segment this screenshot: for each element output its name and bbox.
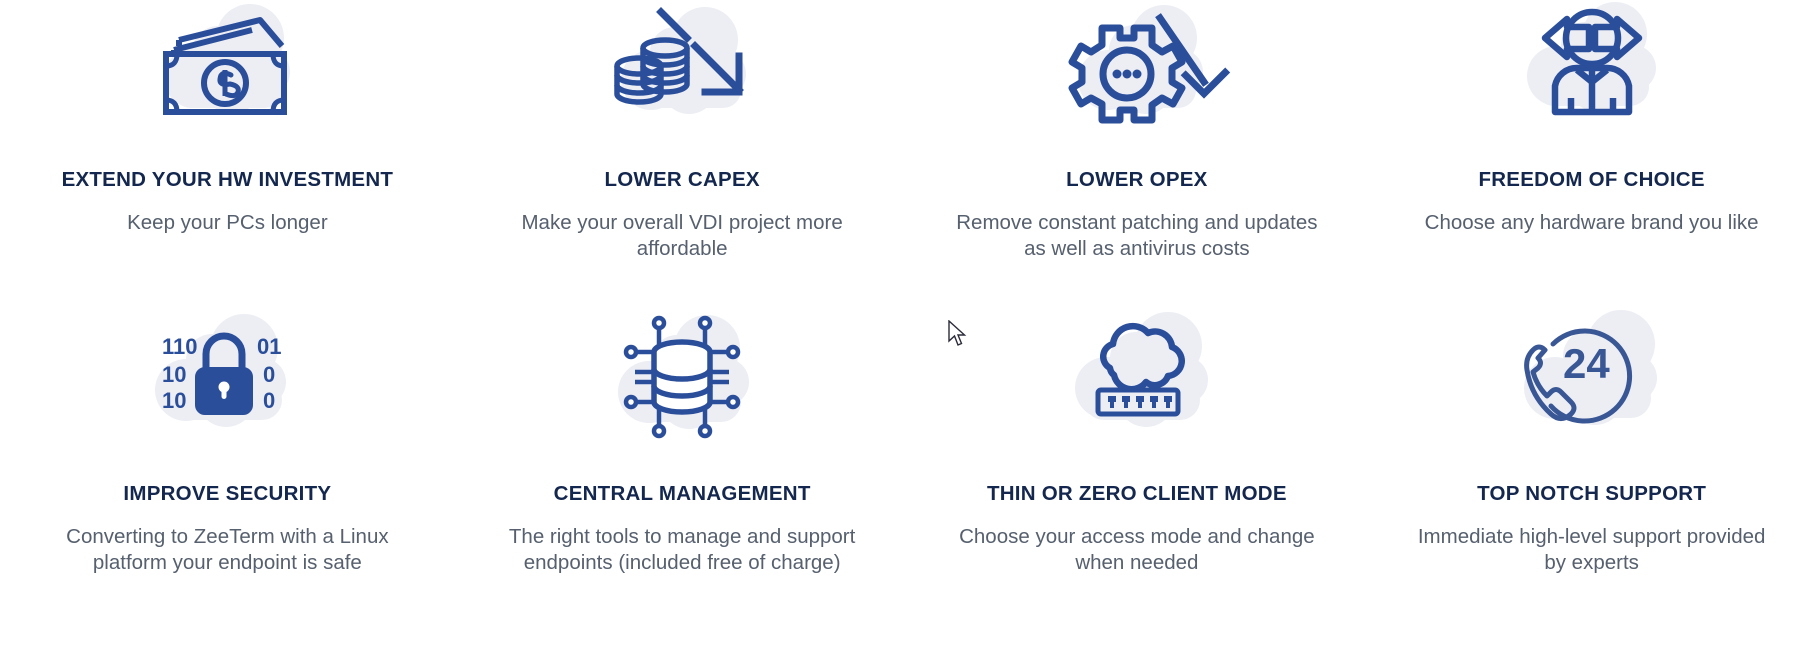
feature-cell-lower-opex[interactable]: LOWER OPEX Remove constant patching and …	[910, 0, 1365, 312]
feature-description: Choose your access mode and change when …	[952, 524, 1322, 576]
svg-text:110: 110	[162, 334, 198, 359]
svg-text:0: 0	[263, 388, 275, 413]
coins-down-arrow-cloud-icon	[587, 0, 777, 124]
feature-description: Converting to ZeeTerm with a Linux platf…	[42, 524, 412, 576]
padlock-binary-cloud-icon: 110 10 10 01 0 0	[132, 312, 322, 442]
feature-title: FREEDOM OF CHOICE	[1478, 168, 1704, 192]
feature-title: IMPROVE SECURITY	[123, 482, 331, 506]
banknotes-dollar-cloud-icon	[132, 0, 322, 124]
feature-cell-central-management[interactable]: CENTRAL MANAGEMENT The right tools to ma…	[455, 312, 910, 662]
feature-description: The right tools to manage and support en…	[497, 524, 867, 576]
feature-cell-lower-capex[interactable]: LOWER CAPEX Make your overall VDI projec…	[455, 0, 910, 312]
feature-cell-extend-hw-investment[interactable]: EXTEND YOUR HW INVESTMENT Keep your PCs …	[0, 0, 455, 312]
svg-text:10: 10	[162, 362, 186, 387]
feature-title: LOWER OPEX	[1066, 168, 1207, 192]
feature-description: Choose any hardware brand you like	[1425, 210, 1759, 236]
feature-cell-freedom-of-choice[interactable]: FREEDOM OF CHOICE Choose any hardware br…	[1364, 0, 1819, 312]
svg-text:01: 01	[257, 334, 281, 359]
feature-description: Make your overall VDI project more affor…	[497, 210, 867, 262]
feature-title: EXTEND YOUR HW INVESTMENT	[62, 168, 394, 192]
feature-grid: EXTEND YOUR HW INVESTMENT Keep your PCs …	[0, 0, 1819, 662]
feature-cell-thin-or-zero-client[interactable]: THIN OR ZERO CLIENT MODE Choose your acc…	[910, 312, 1365, 662]
database-network-nodes-cloud-icon	[587, 312, 777, 442]
gear-down-arrow-cloud-icon	[1042, 0, 1232, 124]
feature-description: Immediate high-level support provided by…	[1407, 524, 1777, 576]
support-hours-label: 24	[1563, 340, 1610, 387]
svg-text:10: 10	[162, 388, 186, 413]
feature-cell-top-notch-support[interactable]: 24 TOP NOTCH SUPPORT Immediate high-leve…	[1364, 312, 1819, 662]
phone-handset-24-support-cloud-icon: 24	[1497, 312, 1687, 442]
feature-title: CENTRAL MANAGEMENT	[554, 482, 811, 506]
feature-title: THIN OR ZERO CLIENT MODE	[987, 482, 1287, 506]
feature-description: Remove constant patching and updates as …	[952, 210, 1322, 262]
feature-cell-improve-security[interactable]: 110 10 10 01 0 0	[0, 312, 455, 662]
person-bidirectional-arrows-cloud-icon	[1497, 0, 1687, 124]
feature-title: LOWER CAPEX	[604, 168, 759, 192]
feature-description: Keep your PCs longer	[127, 210, 328, 236]
cloud-thin-client-switch-icon	[1042, 312, 1232, 442]
feature-title: TOP NOTCH SUPPORT	[1477, 482, 1706, 506]
svg-text:0: 0	[263, 362, 275, 387]
